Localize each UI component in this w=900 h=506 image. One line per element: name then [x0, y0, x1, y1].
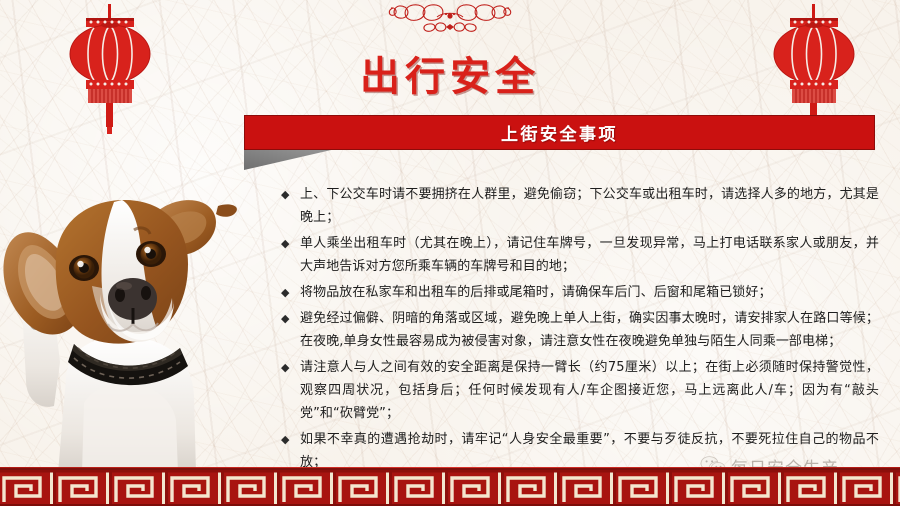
diamond-bullet-icon: ◆: [281, 356, 300, 379]
jack-russell-terrier-listening-photo: [0, 148, 246, 473]
slide-canvas: 出行安全 上街安全事项: [0, 0, 900, 506]
list-item-text: 上、下公交车时请不要拥挤在人群里，避免偷窃；下公交车或出租车时，请选择人多的地方…: [300, 183, 879, 229]
subtitle-banner-label: 上街安全事项: [501, 120, 618, 145]
diamond-bullet-icon: ◆: [281, 183, 300, 206]
diamond-bullet-icon: ◆: [281, 232, 300, 255]
diamond-bullet-icon: ◆: [281, 281, 300, 304]
list-item: ◆ 避免经过偏僻、阴暗的角落或区域，避免晚上单人上街，确实因事太晚时，请安排家人…: [281, 307, 879, 353]
list-item: ◆ 单人乘坐出租车时（尤其在晚上），请记住车牌号，一旦发现异常，马上打电话联系家…: [281, 232, 879, 278]
safety-bullet-list: ◆ 上、下公交车时请不要拥挤在人群里，避免偷窃；下公交车或出租车时，请选择人多的…: [281, 183, 879, 477]
list-item-text: 将物品放在私家车和出租车的后排或尾箱时，请确保车后门、后窗和尾箱已锁好；: [300, 281, 879, 304]
list-item-text: 避免经过偏僻、阴暗的角落或区域，避免晚上单人上街，确实因事太晚时，请安排家人在路…: [300, 307, 879, 353]
greek-key-meander-border: [0, 468, 900, 506]
scroll-filigree-ornament: [385, 0, 515, 34]
list-item: ◆ 将物品放在私家车和出租车的后排或尾箱时，请确保车后门、后窗和尾箱已锁好；: [281, 281, 879, 304]
diamond-bullet-icon: ◆: [281, 307, 300, 330]
list-item: ◆ 上、下公交车时请不要拥挤在人群里，避免偷窃；下公交车或出租车时，请选择人多的…: [281, 183, 879, 229]
diamond-bullet-icon: ◆: [281, 428, 300, 451]
page-title: 出行安全: [0, 44, 900, 102]
subtitle-banner: 上街安全事项: [244, 115, 875, 150]
meander-pattern: [0, 470, 900, 506]
list-item-text: 单人乘坐出租车时（尤其在晚上），请记住车牌号，一旦发现异常，马上打电话联系家人或…: [300, 232, 879, 278]
list-item-text: 请注意人与人之间有效的安全距离是保持一臂长（约75厘米）以上；在街上必须随时保持…: [300, 356, 879, 425]
list-item: ◆ 请注意人与人之间有效的安全距离是保持一臂长（约75厘米）以上；在街上必须随时…: [281, 356, 879, 425]
